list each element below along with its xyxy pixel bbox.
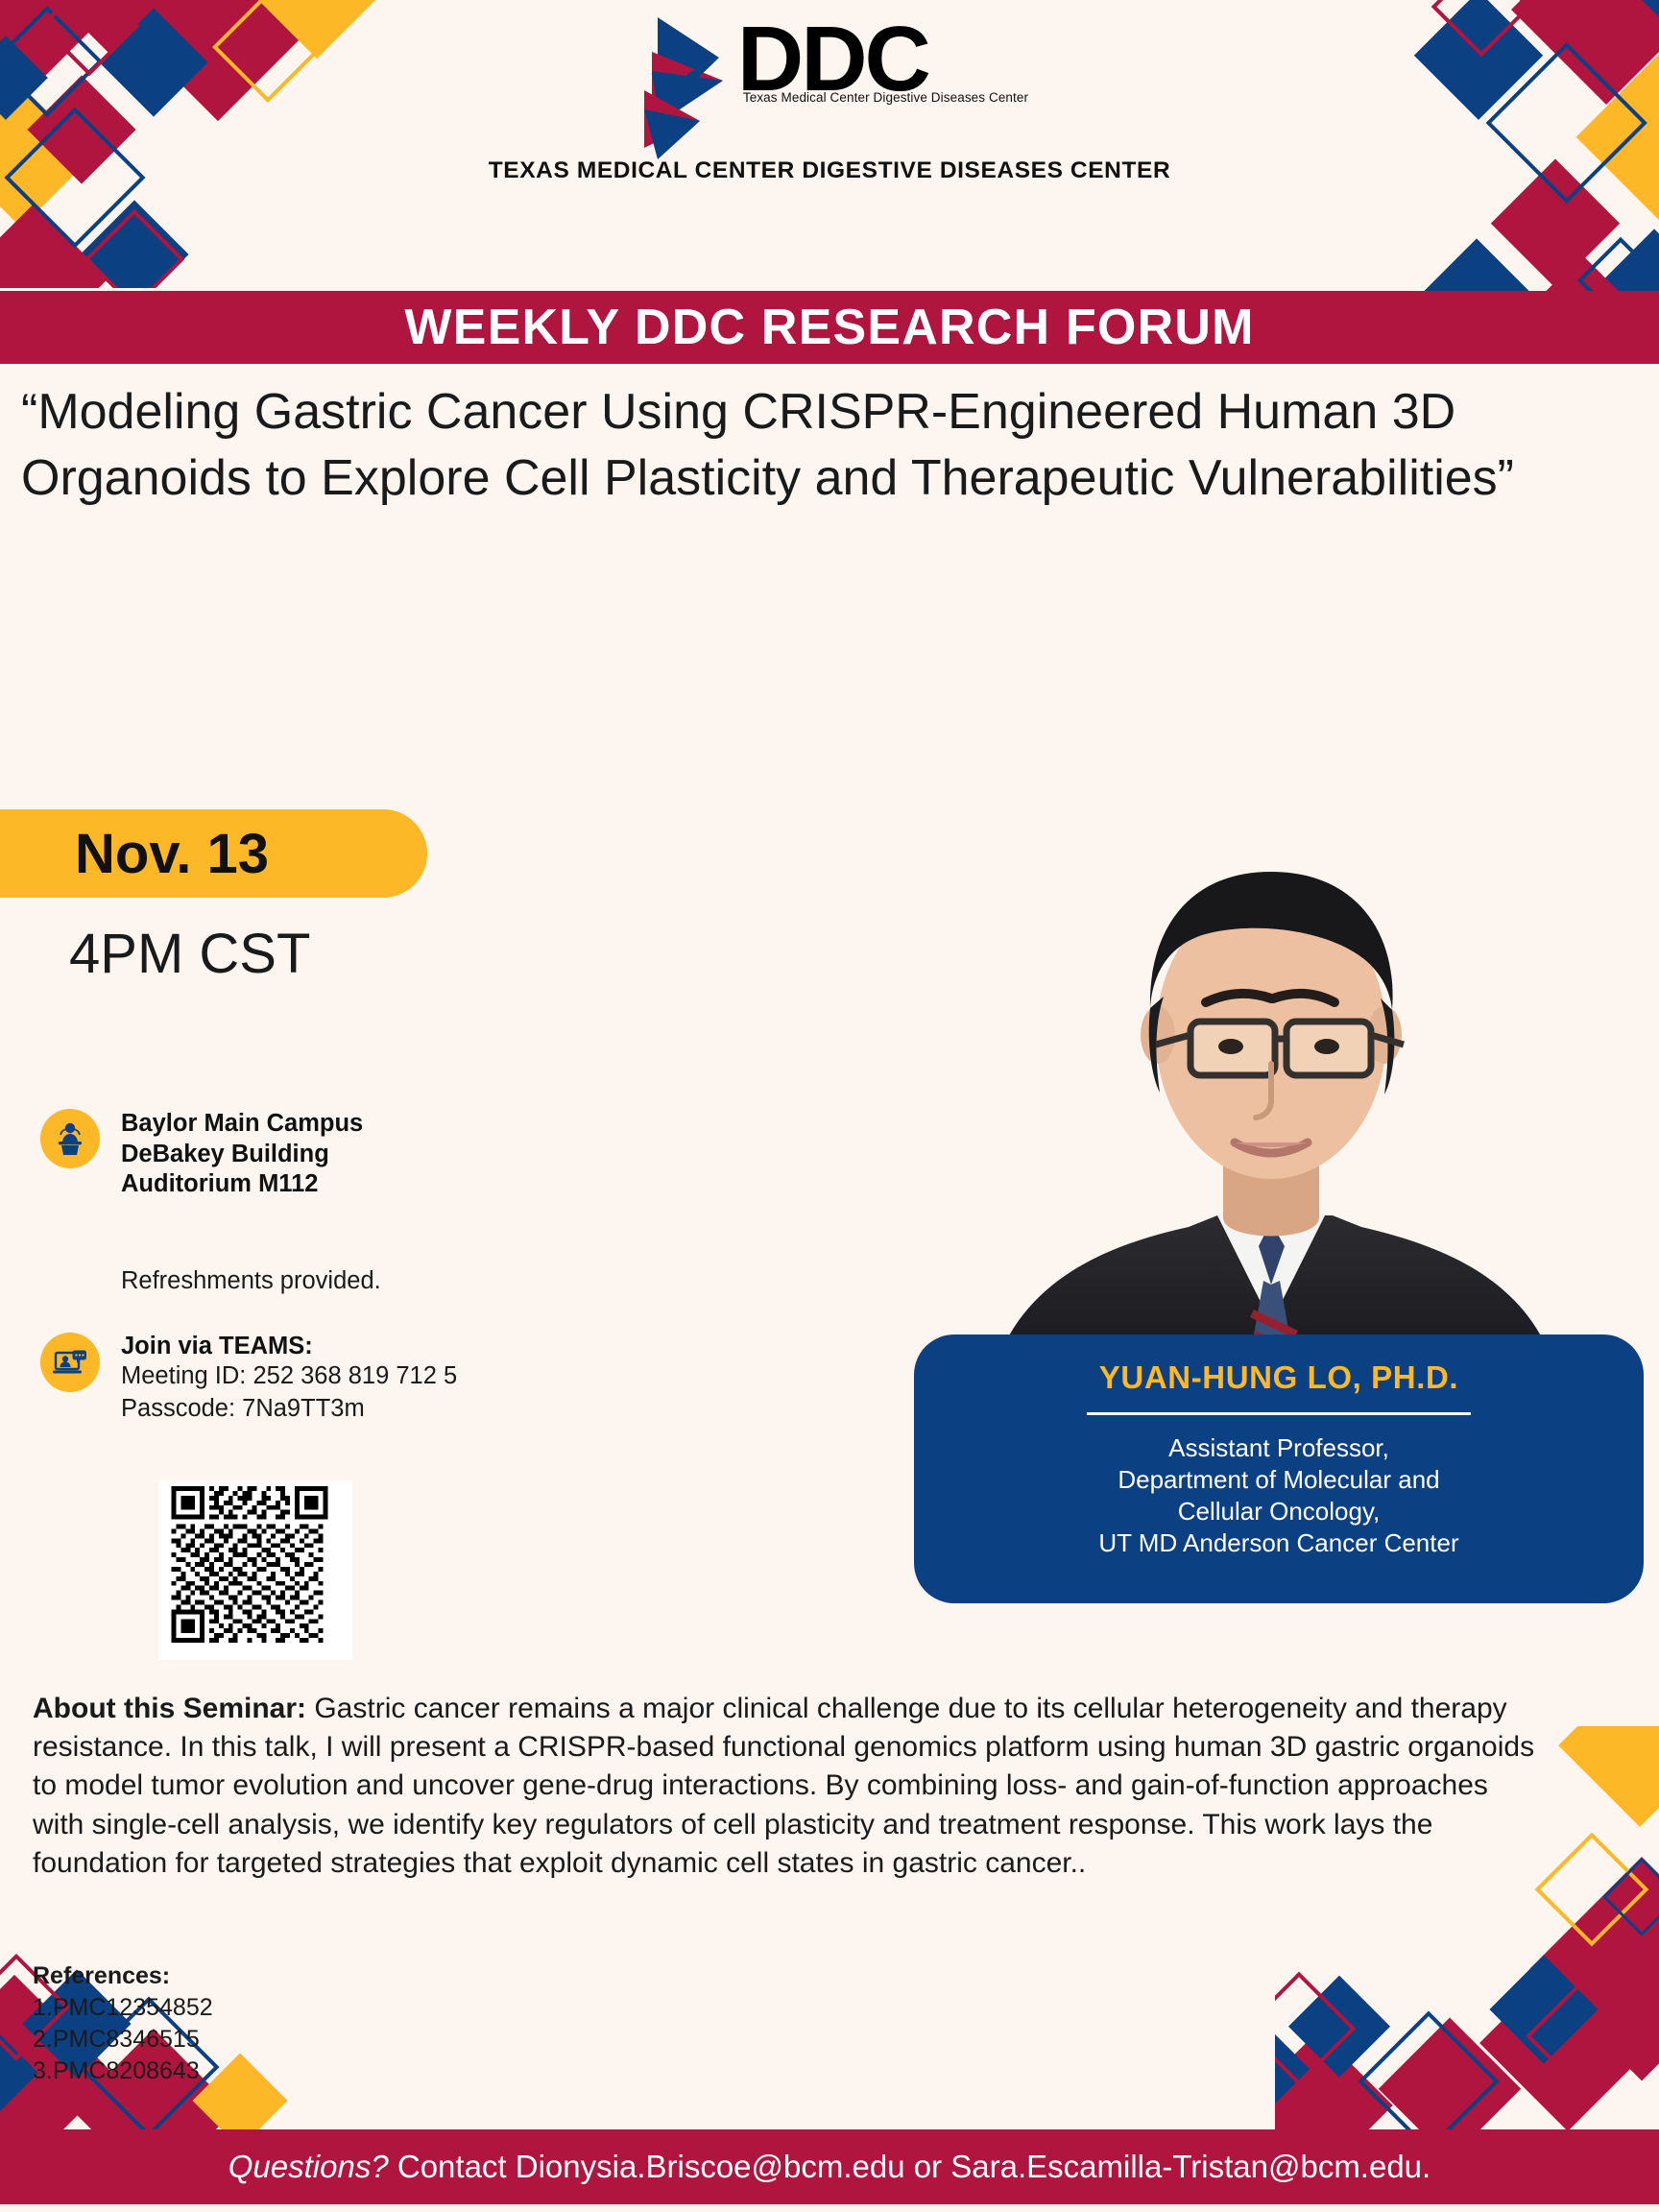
event-time: 4PM CST (69, 922, 310, 986)
laptop-video-chat-icon (40, 1333, 100, 1392)
reference-item: 2.PMC8346515 (33, 2024, 213, 2056)
card-divider (1087, 1412, 1471, 1415)
refreshments-note: Refreshments provided. (121, 1267, 381, 1295)
reference-item: 3.PMC8208643 (33, 2056, 213, 2087)
contact-footer: Questions? Contact Dionysia.Briscoe@bcm.… (0, 2129, 1659, 2204)
date-badge: Nov. 13 (0, 809, 427, 898)
podium-speaker-icon (40, 1109, 100, 1168)
location-line-2: DeBakey Building (121, 1140, 363, 1170)
teams-info: Join via TEAMS: Meeting ID: 252 368 819 … (40, 1333, 457, 1425)
qr-code-icon[interactable] (158, 1480, 352, 1660)
organization-line: TEXAS MEDICAL CENTER DIGESTIVE DISEASES … (0, 157, 1659, 184)
footer-questions: Questions? (228, 2149, 389, 2184)
abstract-block: About this Seminar: Gastric cancer remai… (33, 1690, 1540, 1883)
location-line-3: Auditorium M112 (121, 1169, 363, 1200)
poster-header: DDC Texas Medical Center Digestive Disea… (0, 0, 1659, 197)
talk-title: “Modeling Gastric Cancer Using CRISPR-En… (21, 379, 1644, 512)
footer-text: Questions? Contact Dionysia.Briscoe@bcm.… (228, 2149, 1431, 2185)
references-block: References: 1.PMC12354852 2.PMC8346515 3… (33, 1960, 213, 2087)
teams-passcode: Passcode: 7Na9TT3m (121, 1393, 457, 1426)
forum-banner: WEEKLY DDC RESEARCH FORUM (0, 291, 1659, 364)
location-line-1: Baylor Main Campus (121, 1109, 363, 1140)
footer-contact: Contact Dionysia.Briscoe@bcm.edu or Sara… (389, 2149, 1431, 2184)
speaker-affiliation-1: Assistant Professor, (914, 1432, 1644, 1464)
ddc-logo: DDC Texas Medical Center Digestive Disea… (0, 17, 1659, 159)
teams-heading: Join via TEAMS: (121, 1333, 457, 1360)
speaker-affiliation-2: Department of Molecular and (914, 1464, 1644, 1496)
ddc-logo-mark-icon (631, 17, 741, 159)
event-date: Nov. 13 (75, 822, 269, 886)
location-info: Baylor Main Campus DeBakey Building Audi… (40, 1109, 363, 1200)
seminar-poster: DDC Texas Medical Center Digestive Disea… (0, 0, 1659, 2212)
speaker-card: YUAN-HUNG LO, PH.D. Assistant Professor,… (914, 1334, 1644, 1603)
speaker-name: YUAN-HUNG LO, PH.D. (914, 1359, 1644, 1396)
speaker-affiliation-4: UT MD Anderson Cancer Center (914, 1527, 1644, 1559)
abstract-label: About this Seminar: (33, 1693, 306, 1724)
speaker-photo (929, 747, 1613, 1400)
ddc-logo-wordmark: DDC (737, 17, 1028, 102)
reference-item: 1.PMC12354852 (33, 1992, 213, 2024)
ddc-logo-subtitle: Texas Medical Center Digestive Diseases … (743, 90, 1028, 105)
references-heading: References: (33, 1960, 213, 1992)
teams-meeting-id: Meeting ID: 252 368 819 712 5 (121, 1360, 457, 1393)
speaker-affiliation-3: Cellular Oncology, (914, 1496, 1644, 1527)
forum-banner-title: WEEKLY DDC RESEARCH FORUM (404, 299, 1254, 356)
